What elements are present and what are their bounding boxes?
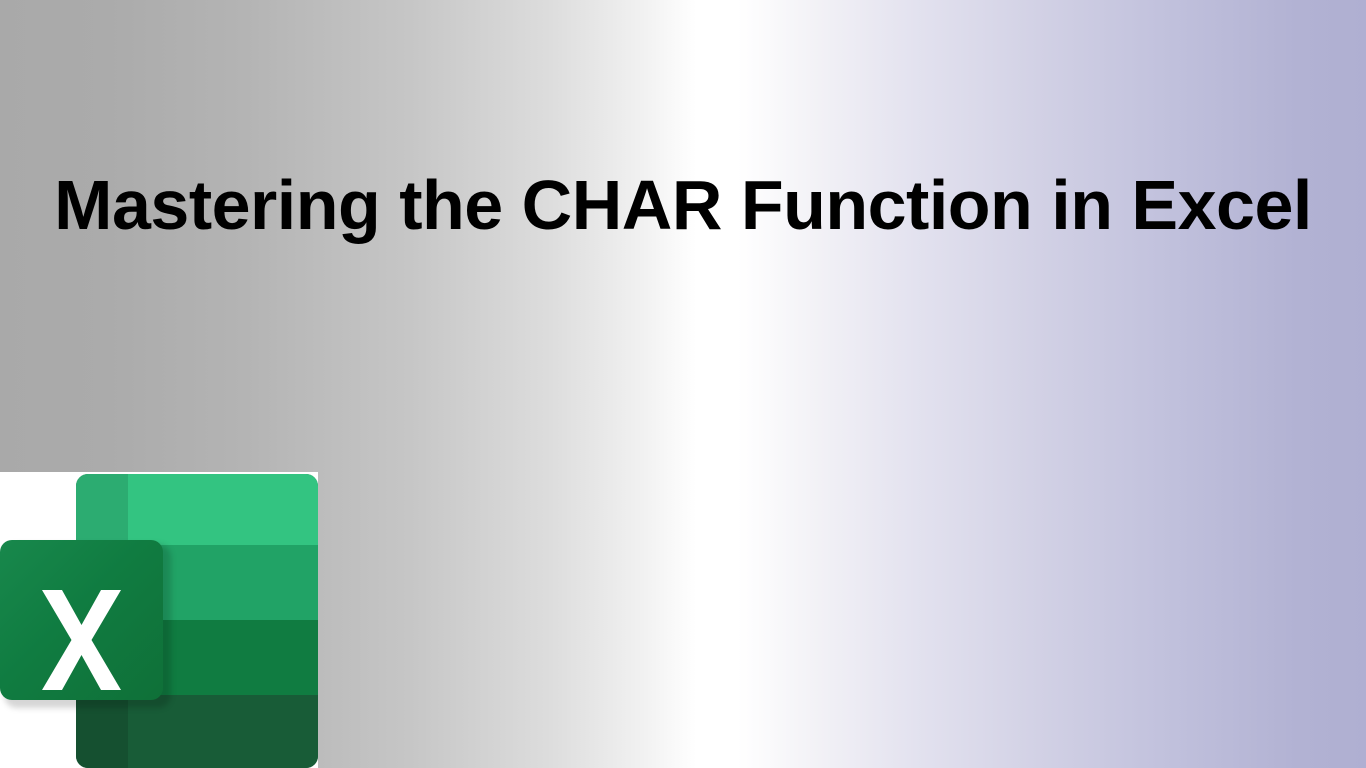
page-title: Mastering the CHAR Function in Excel (0, 160, 1366, 250)
excel-logo (0, 472, 318, 768)
excel-x-icon (0, 540, 163, 700)
poster-canvas: Mastering the CHAR Function in Excel (0, 0, 1366, 768)
excel-x-tile (0, 540, 163, 700)
